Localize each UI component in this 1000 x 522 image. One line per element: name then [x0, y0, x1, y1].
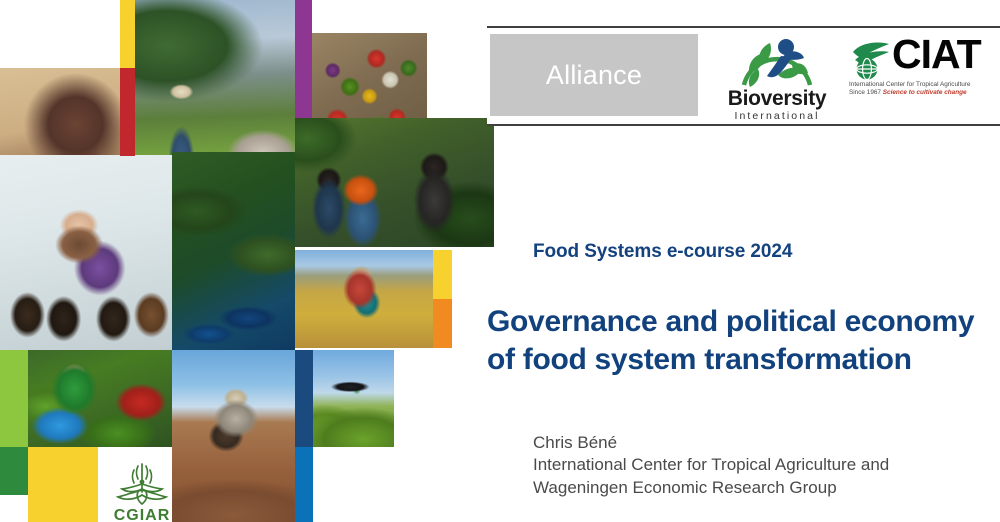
author-affiliation-line2: Wageningen Economic Research Group: [533, 477, 993, 499]
author-name: Chris Béné: [533, 432, 993, 454]
ciat-tagline-since: Since 1967: [849, 89, 881, 96]
bioversity-mark-icon: [734, 35, 820, 87]
logo-band-top-rule: [487, 26, 1000, 28]
cgiar-logo: CGIAR: [103, 462, 181, 522]
bioversity-logo: Bioversity International: [715, 35, 839, 122]
yellow-block-bottom: [28, 447, 98, 522]
ciat-tagline-line1: International Center for Tropical Agricu…: [849, 81, 997, 88]
orange-bar-mid-right: [433, 299, 452, 348]
drone-over-rice: [313, 350, 394, 447]
page-title-line1: Governance and political economy: [487, 303, 997, 341]
author-block: Chris Béné International Center for Trop…: [533, 432, 993, 499]
cgiar-label: CGIAR: [114, 507, 171, 522]
lab-scientist-flasks: [0, 155, 172, 350]
dark-green-block: [0, 447, 28, 495]
blue-bar-bottom: [295, 447, 313, 522]
ciat-tagline-line2: Since 1967 Science to cultivate change: [849, 89, 997, 96]
logo-band: Alliance Bioversity International: [487, 26, 1000, 126]
aerial-river-forest: [172, 152, 295, 350]
author-affiliation-line1: International Center for Tropical Agricu…: [533, 454, 993, 476]
red-bar-left: [120, 68, 135, 156]
ciat-tagline-slogan: Science to cultivate change: [883, 89, 967, 96]
ciat-logo: CIAT International Center for Tropical A…: [849, 40, 997, 96]
page-title: Governance and political economy of food…: [487, 303, 997, 379]
alliance-label: Alliance: [546, 60, 642, 91]
ciat-mark-icon: [849, 40, 891, 80]
bioversity-subtitle: International: [734, 111, 819, 122]
purple-bar-top: [295, 0, 312, 118]
ciat-wordmark: CIAT: [892, 37, 981, 72]
field-visit-group: [295, 118, 494, 247]
course-label: Food Systems e-course 2024: [533, 241, 792, 263]
yellow-bar-mid-right: [433, 250, 452, 299]
yellow-bar-top-left: [120, 0, 135, 68]
quinoa-farmer-woman: [295, 250, 433, 348]
farmer-crouching-field: [172, 350, 295, 522]
light-green-block: [0, 350, 28, 447]
page-title-line2: of food system transformation: [487, 341, 997, 379]
cgiar-mark-icon: [114, 462, 170, 506]
bioversity-name: Bioversity: [728, 88, 827, 109]
logo-band-bottom-rule: [487, 124, 1000, 126]
presentation-slide: Alliance Bioversity International: [0, 0, 1000, 522]
navy-bar-bottom: [295, 350, 313, 447]
alliance-logo-box: Alliance: [490, 34, 698, 116]
market-vegetable-stall: [28, 350, 173, 447]
